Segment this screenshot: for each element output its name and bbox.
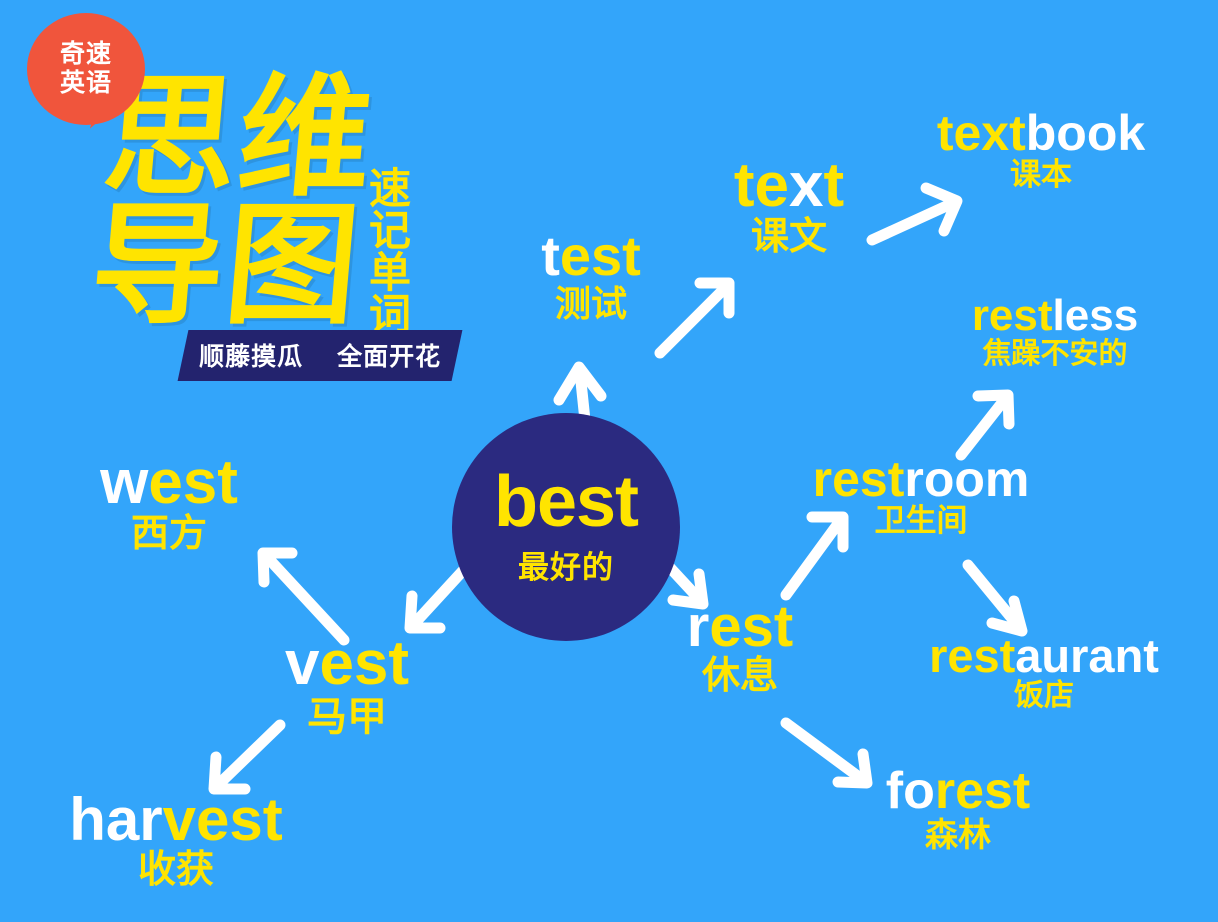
node-forest-translation: 森林 — [852, 818, 1064, 853]
node-west-translation: 西方 — [62, 515, 276, 555]
center-node-best[interactable]: best 最好的 — [452, 413, 680, 641]
node-restroom[interactable]: restroom 卫生间 — [780, 454, 1062, 538]
node-restaurant[interactable]: restaurant 饭店 — [893, 632, 1195, 712]
word-part-0: rest — [813, 451, 905, 507]
word-part-0: rest — [972, 291, 1053, 340]
word-part-1: rest — [935, 762, 1030, 820]
logo-tagline-banner: 顺藤摸瓜 全面开花 — [178, 330, 463, 381]
node-test-translation: 测试 — [506, 285, 676, 323]
node-text[interactable]: text 课文 — [700, 155, 878, 258]
node-rest-translation: 休息 — [660, 657, 820, 697]
word-part-0: te — [734, 151, 789, 220]
arrow-text-to-textbook — [872, 188, 957, 240]
word-part-1: est — [319, 629, 409, 698]
node-rest-word: rest — [660, 598, 820, 656]
node-vest[interactable]: vest 马甲 — [248, 633, 446, 738]
node-test[interactable]: test 测试 — [506, 228, 676, 323]
word-part-1: book — [1026, 105, 1145, 161]
node-west-word: west — [62, 452, 276, 514]
logo-title-line2: 导图 — [86, 200, 366, 332]
node-forest-word: forest — [852, 765, 1064, 817]
node-text-word: text — [700, 155, 878, 217]
node-restless[interactable]: restless 焦躁不安的 — [930, 294, 1180, 369]
word-part-1: less — [1053, 291, 1139, 340]
word-part-1: est — [709, 594, 793, 659]
word-part-1: x — [789, 151, 823, 220]
arrow-vest-to-west — [263, 553, 344, 640]
node-forest[interactable]: forest 森林 — [852, 765, 1064, 853]
word-part-0: r — [687, 594, 710, 659]
node-restroom-translation: 卫生间 — [780, 505, 1062, 538]
word-part-1: est — [148, 448, 238, 517]
node-vest-translation: 马甲 — [248, 696, 446, 738]
arrow-restroom-to-restless — [961, 395, 1009, 455]
logo-title-line1: 思维 — [99, 72, 379, 204]
node-vest-word: vest — [248, 633, 446, 695]
center-node-translation: 最好的 — [518, 542, 614, 587]
word-part-0: w — [100, 448, 148, 517]
logo-vertical-char-2: 单 — [364, 252, 416, 294]
node-restroom-word: restroom — [780, 454, 1062, 504]
mindmap-canvas: .ar { stroke:#ffffff; stroke-width:11; s… — [0, 0, 1218, 922]
word-part-1: vest — [163, 786, 283, 853]
word-part-0: har — [69, 786, 162, 853]
node-west[interactable]: west 西方 — [62, 452, 276, 555]
word-part-0: v — [285, 629, 319, 698]
logo-tagline-left: 顺藤摸瓜 — [199, 337, 303, 373]
logo-vertical-char-0: 速 — [364, 168, 416, 210]
brand-badge-line1: 奇速 — [60, 40, 112, 69]
center-node-word: best — [494, 467, 638, 538]
node-restaurant-word: restaurant — [893, 632, 1195, 679]
node-restless-translation: 焦躁不安的 — [930, 339, 1180, 369]
word-part-2: t — [823, 151, 844, 220]
brand-logo: 奇速 英语 思维 导图 速 记 单 词 顺藤摸瓜 全面开花 — [0, 0, 470, 390]
brand-badge: 奇速 英语 — [27, 13, 145, 125]
node-harvest-word: harvest — [36, 790, 316, 850]
logo-vertical-subtitle: 速 记 单 词 — [364, 168, 416, 336]
node-restaurant-translation: 饭店 — [893, 680, 1195, 712]
node-text-translation: 课文 — [700, 218, 878, 258]
word-part-0: t — [541, 224, 560, 287]
node-textbook-word: textbook — [900, 108, 1182, 158]
word-part-0: rest — [929, 629, 1015, 682]
node-harvest[interactable]: harvest 收获 — [36, 790, 316, 891]
brand-badge-line2: 英语 — [60, 69, 112, 98]
node-rest[interactable]: rest 休息 — [660, 598, 820, 697]
node-harvest-translation: 收获 — [36, 851, 316, 891]
word-part-1: room — [904, 451, 1029, 507]
node-textbook-translation: 课本 — [900, 159, 1182, 192]
word-part-0: text — [937, 105, 1026, 161]
word-part-1: aurant — [1015, 629, 1159, 682]
word-part-0: fo — [886, 762, 935, 820]
word-part-1: est — [560, 224, 641, 287]
node-restless-word: restless — [930, 294, 1180, 338]
logo-tagline-right: 全面开花 — [337, 337, 441, 373]
logo-vertical-char-1: 记 — [364, 210, 416, 252]
node-test-word: test — [506, 228, 676, 284]
arrow-restroom-to-restaurant — [968, 565, 1022, 631]
node-textbook[interactable]: textbook 课本 — [900, 108, 1182, 192]
